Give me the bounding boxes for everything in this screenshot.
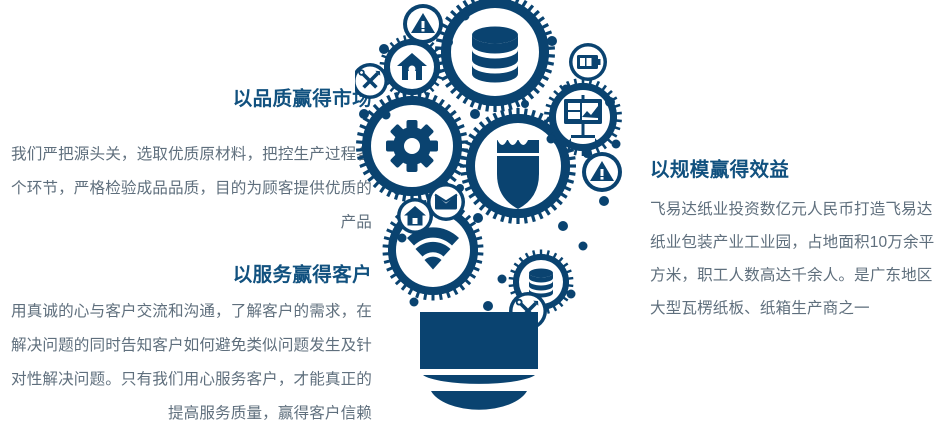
lightbulb-gears-illustration xyxy=(355,0,645,444)
scale-block: 以规模赢得效益 飞易达纸业投资数亿元人民币打造飞易达纸业包装产业工业园，占地面积… xyxy=(650,157,937,325)
quality-body: 我们严把源头关，选取优质原材料，把控生产过程各个环节，严格检验成品品质，目的为顾… xyxy=(0,138,372,240)
scale-body: 飞易达纸业投资数亿元人民币打造飞易达纸业包装产业工业园，占地面积10万余平方米，… xyxy=(650,193,937,325)
bulb-base xyxy=(420,312,538,410)
quality-block: 以品质赢得市场 我们严把源头关，选取优质原材料，把控生产过程各个环节，严格检验成… xyxy=(0,86,372,240)
icon-warning-top xyxy=(403,4,443,44)
service-heading: 以服务赢得客户 xyxy=(0,262,372,288)
icon-warning-right xyxy=(582,152,622,192)
right-text-column: 以规模赢得效益 飞易达纸业投资数亿元人民币打造飞易达纸业包装产业工业园，占地面积… xyxy=(650,157,937,325)
service-block: 以服务赢得客户 用真诚的心与客户交流和沟通，了解客户的需求，在解决问题的同时告知… xyxy=(0,262,372,431)
scale-heading: 以规模赢得效益 xyxy=(650,157,937,183)
icon-tools-left xyxy=(355,63,388,99)
battery-icon xyxy=(577,55,601,69)
gear-database xyxy=(435,0,555,112)
gear-home-top xyxy=(380,35,445,100)
service-body: 用真诚的心与客户交流和沟通，了解客户的需求，在解决问题的同时告知客户如何避免类似… xyxy=(0,295,372,431)
icon-battery xyxy=(569,43,607,81)
icon-home-bottom xyxy=(397,198,433,234)
left-text-column: 以品质赢得市场 我们严把源头关，选取优质原材料，把控生产过程各个环节，严格检验成… xyxy=(0,86,372,431)
page-root: 以品质赢得市场 我们严把源头关，选取优质原材料，把控生产过程各个环节，严格检验成… xyxy=(0,0,937,444)
quality-heading: 以品质赢得市场 xyxy=(0,86,372,112)
mail-icon xyxy=(435,195,457,210)
gear-icon xyxy=(386,120,438,172)
